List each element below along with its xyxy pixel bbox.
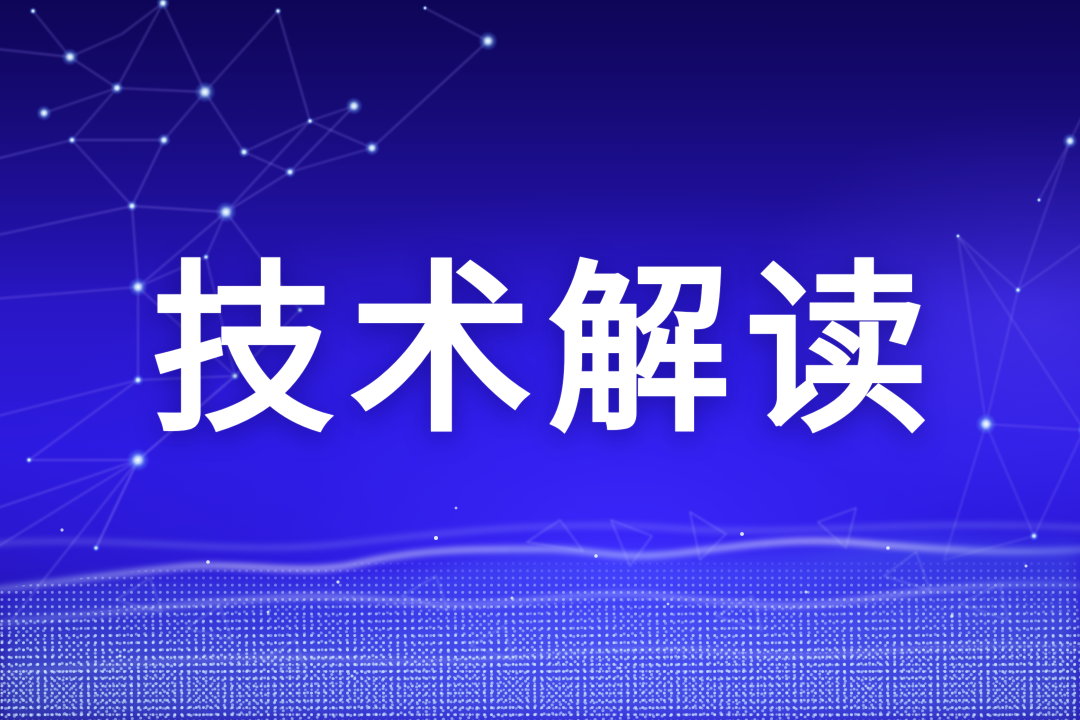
poster-banner: 技术解读 [0, 0, 1080, 720]
headline-container: 技术解读 [0, 244, 1080, 459]
page-title: 技术解读 [136, 260, 943, 443]
